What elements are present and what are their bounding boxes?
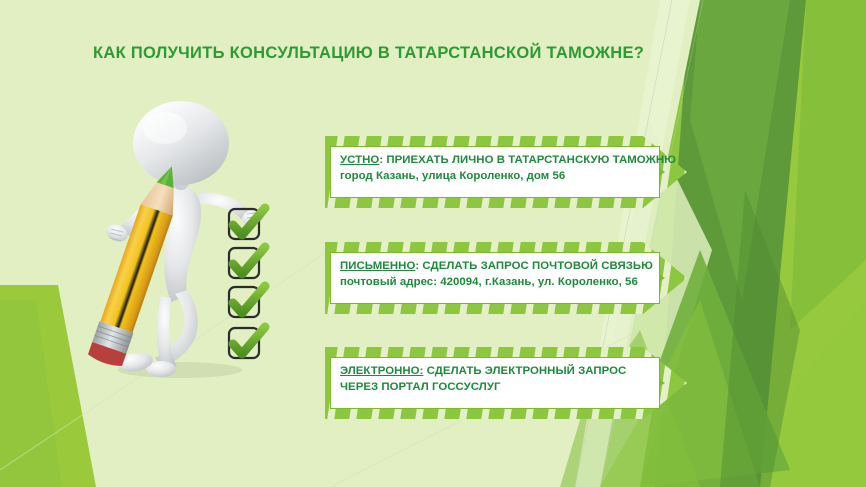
slide-canvas: КАК ПОЛУЧИТЬ КОНСУЛЬТАЦИЮ В ТАТАРСТАНСКО… bbox=[0, 0, 866, 487]
page-title: КАК ПОЛУЧИТЬ КОНСУЛЬТАЦИЮ В ТАТАРСТАНСКО… bbox=[93, 44, 673, 63]
checkbox-item bbox=[229, 286, 265, 317]
callout-line-1: ЭЛЕКТРОННО: СДЕЛАТЬ ЭЛЕКТРОННЫЙ ЗАПРОС bbox=[340, 364, 651, 379]
checkbox-item bbox=[229, 247, 265, 278]
callout-row: УСТНО: ПРИЕХАТЬ ЛИЧНО В ТАТАРСТАНСКУЮ ТА… bbox=[325, 134, 695, 210]
callout-keyword: ЭЛЕКТРОННО: bbox=[340, 365, 423, 377]
callout-line-2: город Казань, улица Короленко, дом 56 bbox=[340, 168, 651, 185]
callout-line-1: УСТНО: ПРИЕХАТЬ ЛИЧНО В ТАТАРСТАНСКУЮ ТА… bbox=[340, 153, 651, 168]
callout-row: ЭЛЕКТРОННО: СДЕЛАТЬ ЭЛЕКТРОННЫЙ ЗАПРОС Ч… bbox=[325, 345, 695, 421]
figure-head-highlight bbox=[143, 112, 187, 144]
callout-line-1: ПИСЬМЕННО: СДЕЛАТЬ ЗАПРОС ПОЧТОВОЙ СВЯЗЬ… bbox=[340, 259, 651, 274]
checklist-group bbox=[229, 208, 265, 358]
callout-line-1-rest: : ПРИЕХАТЬ ЛИЧНО В ТАТАРСТАНСКУЮ ТАМОЖНЮ bbox=[379, 154, 676, 166]
callout-line-1-rest: : СДЕЛАТЬ ЗАПРОС ПОЧТОВОЙ СВЯЗЬЮ bbox=[415, 260, 653, 272]
callout-line-2: ЧЕРЕЗ ПОРТАЛ ГОССУСЛУГ bbox=[340, 379, 651, 396]
illustration-3d-man-with-pencil bbox=[75, 90, 305, 385]
figure-head bbox=[133, 101, 229, 185]
callout-keyword: ПИСЬМЕННО bbox=[340, 260, 415, 272]
callout-text-box: УСТНО: ПРИЕХАТЬ ЛИЧНО В ТАТАРСТАНСКУЮ ТА… bbox=[330, 146, 660, 198]
checkbox-item bbox=[229, 327, 265, 358]
callout-keyword: УСТНО bbox=[340, 154, 379, 166]
callout-row: ПИСЬМЕННО: СДЕЛАТЬ ЗАПРОС ПОЧТОВОЙ СВЯЗЬ… bbox=[325, 240, 695, 316]
callout-text-box: ПИСЬМЕННО: СДЕЛАТЬ ЗАПРОС ПОЧТОВОЙ СВЯЗЬ… bbox=[330, 252, 660, 304]
callout-text-box: ЭЛЕКТРОННО: СДЕЛАТЬ ЭЛЕКТРОННЫЙ ЗАПРОС Ч… bbox=[330, 357, 660, 409]
callout-line-1-rest: СДЕЛАТЬ ЭЛЕКТРОННЫЙ ЗАПРОС bbox=[423, 365, 626, 377]
callout-line-2: почтовый адрес: 420094, г.Казань, ул. Ко… bbox=[340, 274, 651, 291]
